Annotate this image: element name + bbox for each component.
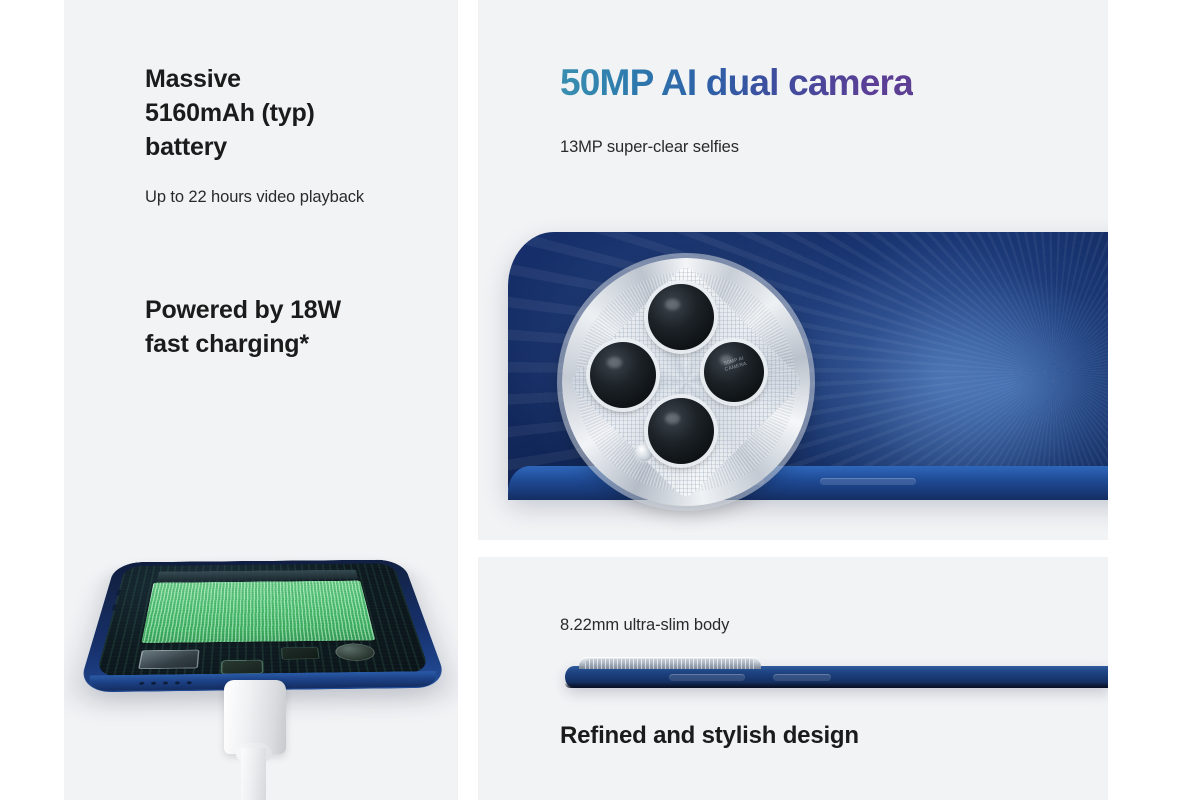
camera-lens-right — [704, 342, 764, 402]
phone-side-profile-image — [565, 657, 1108, 690]
design-subtext: 8.22mm ultra-slim body — [560, 613, 729, 639]
camera-flash — [636, 444, 653, 461]
phone-chassis — [77, 560, 449, 693]
battery-headline-line-2: 5160mAh (typ) — [145, 96, 435, 130]
camera-headline: 50MP AI dual camera — [560, 62, 913, 104]
battery-panel: Massive 5160mAh (typ) battery Up to 22 h… — [64, 0, 458, 800]
battery-headline-line-1: Massive — [145, 62, 435, 96]
battery-headline-line-3: battery — [145, 130, 435, 164]
usb-c-cable — [241, 748, 266, 800]
chip-tertiary — [281, 647, 320, 659]
battery-headline: Massive 5160mAh (typ) battery — [145, 62, 435, 164]
battery-subtext: Up to 22 hours video playback — [145, 185, 395, 211]
speaker-grille — [139, 681, 192, 685]
phone-side-body — [565, 666, 1108, 688]
camera-panel: 50MP AI dual camera 13MP super-clear sel… — [478, 0, 1108, 540]
camera-lens-left — [590, 342, 656, 408]
camera-subtext: 13MP super-clear selfies — [560, 135, 739, 161]
charging-headline: Powered by 18W fast charging* — [145, 293, 445, 361]
charging-headline-line-1: Powered by 18W — [145, 293, 445, 327]
product-feature-collage: Massive 5160mAh (typ) battery Up to 22 h… — [0, 0, 1200, 800]
circuit-board-cavity — [96, 563, 430, 676]
design-panel: 8.22mm ultra-slim body Refined and styli… — [478, 557, 1108, 800]
camera-lens-top — [648, 284, 714, 350]
speaker-coil — [334, 643, 377, 661]
battery-cell-graphic — [141, 581, 375, 643]
phone-side-camera-bump — [579, 657, 761, 669]
camera-lens-bottom — [648, 398, 714, 464]
phone-side-volume-key — [669, 674, 745, 681]
phone-side-power-key — [773, 674, 831, 681]
flex-cable-strip — [157, 570, 358, 581]
phone-cutaway-image — [64, 418, 458, 748]
chip-primary — [138, 650, 199, 669]
chip-secondary — [221, 660, 264, 675]
camera-island: 50MP AI CAMERA — [562, 258, 810, 506]
design-headline: Refined and stylish design — [560, 720, 859, 753]
charging-headline-line-2: fast charging* — [145, 327, 445, 361]
